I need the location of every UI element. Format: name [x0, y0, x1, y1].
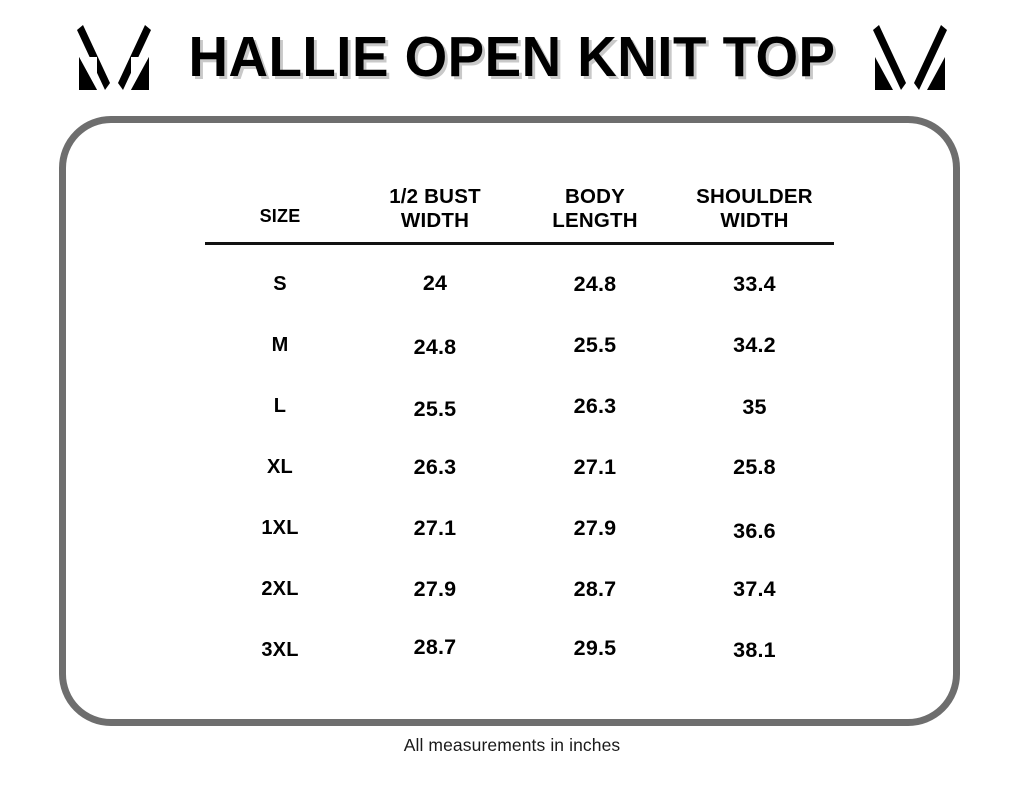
cell-size: 3XL	[205, 620, 355, 681]
cell-shoulder: 35	[675, 377, 834, 438]
table-row: S 24 24.8 33.4	[205, 244, 834, 316]
cell-shoulder: 37.4	[675, 559, 834, 620]
column-header-bust-line1: 1/2 BUST	[355, 185, 515, 209]
brand-logo-right-icon	[871, 21, 949, 93]
column-header-size: SIZE	[205, 161, 355, 244]
cell-size: 1XL	[205, 498, 355, 559]
size-chart-frame: SIZE 1/2 BUST WIDTH BODY LENGTH SHOULDER…	[59, 116, 960, 726]
cell-shoulder: 34.2	[675, 315, 834, 376]
cell-length: 26.3	[515, 376, 675, 437]
cell-length: 24.8	[515, 244, 675, 316]
table-header-row: SIZE 1/2 BUST WIDTH BODY LENGTH SHOULDER…	[205, 161, 834, 244]
cell-length: 29.5	[515, 618, 675, 679]
cell-size: S	[205, 244, 355, 316]
cell-shoulder: 36.6	[675, 501, 834, 562]
cell-shoulder: 38.1	[675, 620, 834, 681]
cell-length: 25.5	[515, 315, 675, 376]
cell-bust: 27.1	[355, 498, 515, 559]
cell-length: 28.7	[515, 559, 675, 620]
cell-shoulder: 33.4	[675, 244, 834, 316]
table-row: M 24.8 25.5 34.2	[205, 315, 834, 376]
table-row: L 25.5 26.3 35	[205, 376, 834, 437]
table-row: 2XL 27.9 28.7 37.4	[205, 559, 834, 620]
size-chart-table: SIZE 1/2 BUST WIDTH BODY LENGTH SHOULDER…	[205, 161, 834, 681]
column-header-shoulder-line2: WIDTH	[675, 209, 834, 233]
cell-bust: 25.5	[355, 379, 515, 440]
column-header-shoulder-line1: SHOULDER	[675, 185, 834, 209]
header-bar: HALLIE OPEN KNIT TOP	[0, 14, 1024, 100]
cell-length: 27.9	[515, 498, 675, 559]
table-row: 1XL 27.1 27.9 36.6	[205, 498, 834, 559]
cell-size: L	[205, 376, 355, 437]
column-header-bust-width: 1/2 BUST WIDTH	[355, 161, 515, 244]
cell-bust: 27.9	[355, 559, 515, 620]
cell-bust: 24	[355, 243, 515, 315]
cell-size: XL	[205, 437, 355, 498]
cell-size: M	[205, 315, 355, 376]
cell-length: 27.1	[515, 437, 675, 498]
column-header-length-line2: LENGTH	[515, 209, 675, 233]
cell-bust: 28.7	[355, 617, 515, 678]
table-row: XL 26.3 27.1 25.8	[205, 437, 834, 498]
column-header-shoulder-width: SHOULDER WIDTH	[675, 161, 834, 244]
page-title: HALLIE OPEN KNIT TOP	[188, 29, 835, 86]
table-row: 3XL 28.7 29.5 38.1	[205, 620, 834, 681]
column-header-length-line1: BODY	[515, 185, 675, 209]
cell-bust: 26.3	[355, 437, 515, 498]
column-header-body-length: BODY LENGTH	[515, 161, 675, 244]
column-header-size-line1: SIZE	[205, 206, 355, 227]
brand-logo-left-icon	[75, 21, 153, 93]
measurement-units-note: All measurements in inches	[0, 735, 1024, 756]
cell-shoulder: 25.8	[675, 437, 834, 498]
cell-size: 2XL	[205, 559, 355, 620]
table-body: S 24 24.8 33.4 M 24.8 25.5 34.2 L 25.5 2…	[205, 244, 834, 682]
cell-bust: 24.8	[355, 317, 515, 378]
column-header-bust-line2: WIDTH	[355, 209, 515, 233]
